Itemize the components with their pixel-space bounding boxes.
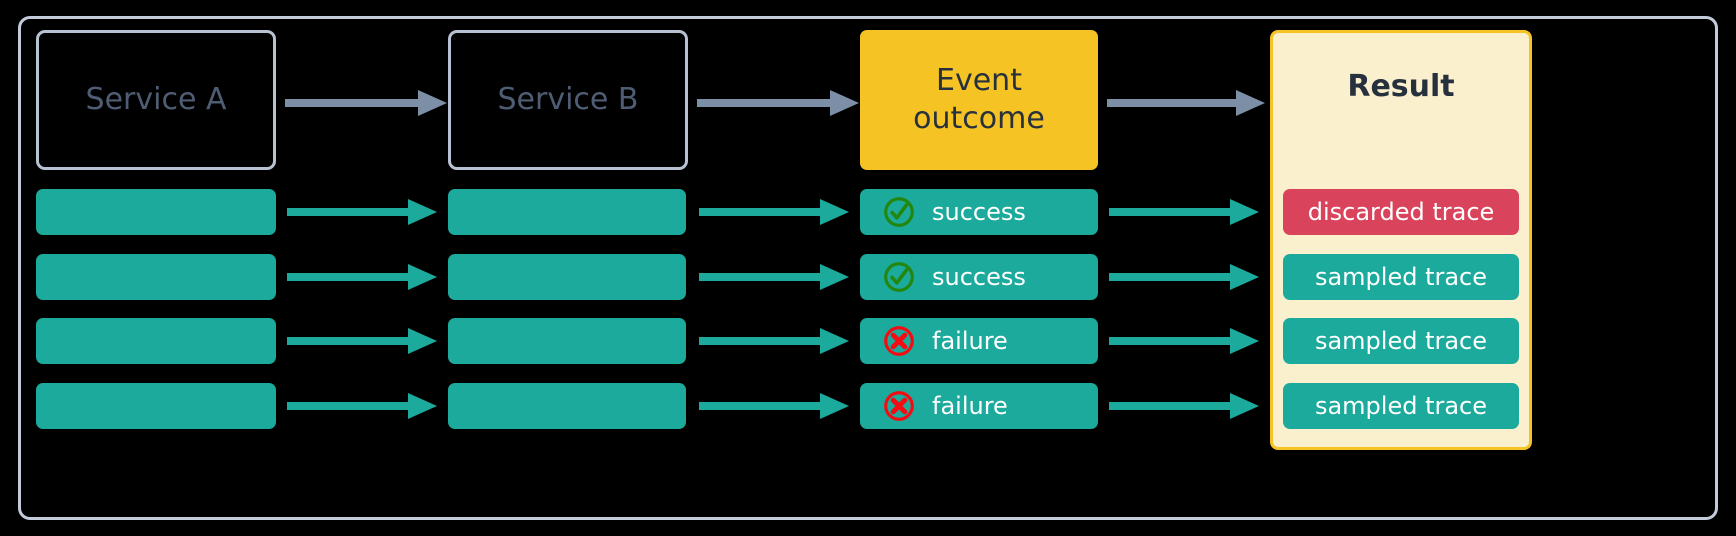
header-arrow-a-to-b	[285, 88, 447, 118]
row-3-result-label: sampled trace	[1315, 327, 1487, 355]
row-4-arrow-b-to-outcome	[699, 392, 849, 420]
row-1-service-a-span	[36, 189, 276, 235]
row-3-result-chip: sampled trace	[1283, 318, 1519, 364]
row-2-service-b-span	[448, 254, 686, 300]
row-1-arrow-outcome-to-result	[1109, 198, 1259, 226]
row-3-arrow-a-to-b	[287, 327, 437, 355]
row-2-arrow-outcome-to-result	[1109, 263, 1259, 291]
row-1-arrow-a-to-b	[287, 198, 437, 226]
row-3-service-b-span	[448, 318, 686, 364]
header-arrow-outcome-to-result	[1107, 88, 1265, 118]
column-header-service-b: Service B	[448, 30, 688, 170]
x-circle-icon	[882, 389, 916, 423]
row-3-outcome-label: failure	[932, 327, 1008, 355]
row-2-outcome-label: success	[932, 263, 1026, 291]
row-1-outcome-chip: success	[860, 189, 1098, 235]
row-2-result-chip: sampled trace	[1283, 254, 1519, 300]
service-a-label: Service A	[86, 81, 227, 119]
row-4-result-label: sampled trace	[1315, 392, 1487, 420]
row-3-outcome-chip: failure	[860, 318, 1098, 364]
event-outcome-label-line2: outcome	[913, 100, 1045, 138]
row-4-arrow-a-to-b	[287, 392, 437, 420]
x-circle-icon	[882, 324, 916, 358]
row-1-service-b-span	[448, 189, 686, 235]
check-circle-icon	[882, 195, 916, 229]
row-4-arrow-outcome-to-result	[1109, 392, 1259, 420]
row-3-arrow-outcome-to-result	[1109, 327, 1259, 355]
row-3-service-a-span	[36, 318, 276, 364]
row-2-outcome-chip: success	[860, 254, 1098, 300]
row-1-result-label: discarded trace	[1308, 198, 1495, 226]
row-2-arrow-a-to-b	[287, 263, 437, 291]
row-4-service-a-span	[36, 383, 276, 429]
row-3-arrow-b-to-outcome	[699, 327, 849, 355]
row-4-result-chip: sampled trace	[1283, 383, 1519, 429]
diagram-canvas: Service A Service B Event outcome Result…	[0, 0, 1736, 536]
result-title: Result	[1273, 69, 1529, 104]
service-b-label: Service B	[498, 81, 639, 119]
row-2-arrow-b-to-outcome	[699, 263, 849, 291]
row-4-outcome-label: failure	[932, 392, 1008, 420]
row-2-result-label: sampled trace	[1315, 263, 1487, 291]
row-4-service-b-span	[448, 383, 686, 429]
event-outcome-label-line1: Event	[936, 62, 1022, 100]
column-header-service-a: Service A	[36, 30, 276, 170]
row-2-service-a-span	[36, 254, 276, 300]
header-arrow-b-to-outcome	[697, 88, 859, 118]
row-1-arrow-b-to-outcome	[699, 198, 849, 226]
row-4-outcome-chip: failure	[860, 383, 1098, 429]
column-header-event-outcome: Event outcome	[860, 30, 1098, 170]
row-1-result-chip: discarded trace	[1283, 189, 1519, 235]
row-1-outcome-label: success	[932, 198, 1026, 226]
check-circle-icon	[882, 260, 916, 294]
